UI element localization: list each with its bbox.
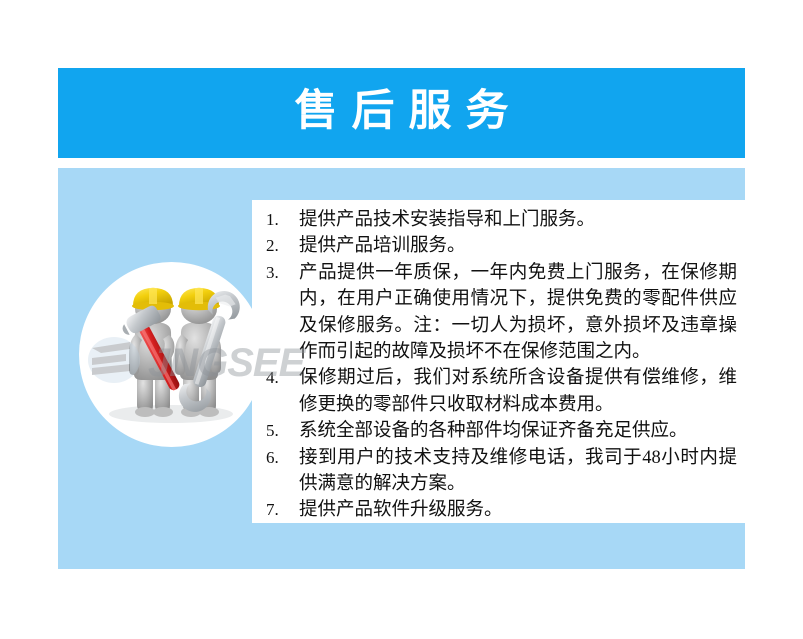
list-item-text: 提供产品技术安装指导和上门服务。 [299, 207, 737, 233]
service-list-card: 1. 提供产品技术安装指导和上门服务。 2. 提供产品培训服务。 3. 产品提供… [252, 200, 745, 523]
service-list: 1. 提供产品技术安装指导和上门服务。 2. 提供产品培训服务。 3. 产品提供… [266, 207, 737, 524]
list-item: 4. 保修期过后，我们对系统所含设备提供有偿维修，维修更换的零部件只收取材料成本… [266, 365, 737, 418]
list-item: 5. 系统全部设备的各种部件均保证齐备充足供应。 [266, 418, 737, 444]
list-item-text: 系统全部设备的各种部件均保证齐备充足供应。 [299, 418, 737, 444]
illustration-two-workers [79, 262, 264, 447]
list-item-number: 1. [266, 207, 294, 233]
list-item-text: 产品提供一年质保，一年内免费上门服务，在保修期内，在用户正确使用情况下，提供免费… [299, 260, 737, 366]
workers-icon [79, 262, 264, 447]
list-item-number: 3. [266, 260, 294, 286]
list-item: 6. 接到用户的技术支持及维修电话，我司于48小时内提供满意的解决方案。 [266, 445, 737, 498]
list-item: 7. 提供产品软件升级服务。 [266, 497, 737, 523]
list-item-text: 保修期过后，我们对系统所含设备提供有偿维修，维修更换的零部件只收取材料成本费用。 [299, 365, 737, 418]
list-item-number: 5. [266, 418, 294, 444]
list-item: 1. 提供产品技术安装指导和上门服务。 [266, 207, 737, 233]
page-root: 售后服务 [0, 0, 803, 639]
header-banner: 售后服务 [58, 68, 745, 158]
list-item-number: 6. [266, 445, 294, 471]
list-item-text: 提供产品培训服务。 [299, 233, 737, 259]
list-item-text: 提供产品软件升级服务。 [299, 497, 737, 523]
page-title: 售后服务 [281, 90, 523, 133]
list-item-number: 4. [266, 365, 294, 391]
list-item-text: 接到用户的技术支持及维修电话，我司于48小时内提供满意的解决方案。 [299, 445, 737, 498]
list-item: 2. 提供产品培训服务。 [266, 233, 737, 259]
list-item-number: 2. [266, 233, 294, 259]
list-item-number: 7. [266, 497, 294, 523]
list-item: 3. 产品提供一年质保，一年内免费上门服务，在保修期内，在用户正确使用情况下，提… [266, 260, 737, 366]
